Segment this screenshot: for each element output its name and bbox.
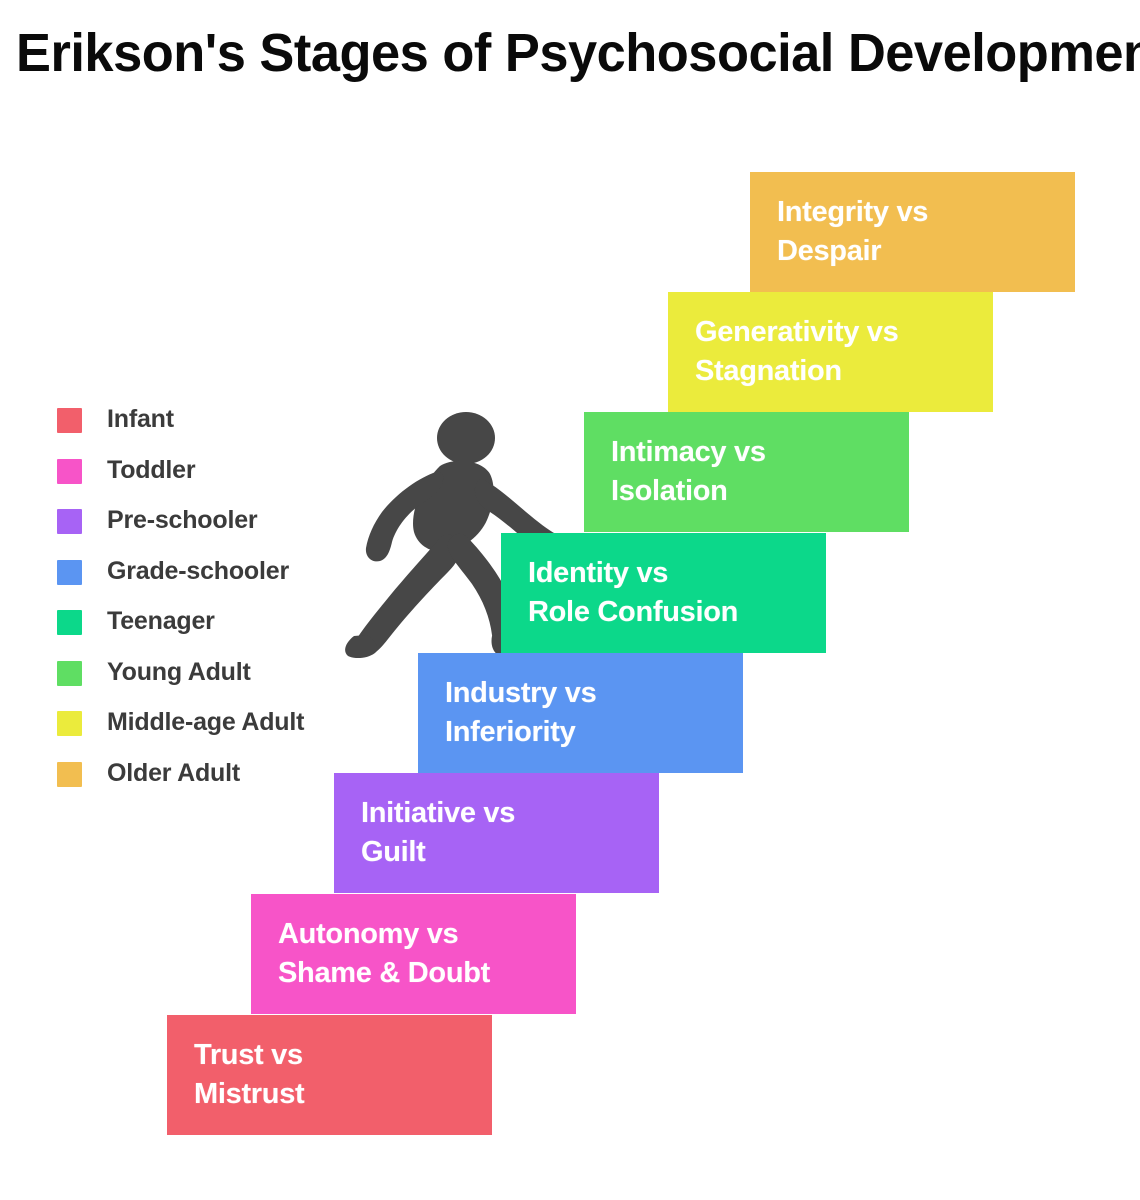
stage-block-generativity-vs-stagnation: Generativity vs Stagnation	[668, 292, 993, 412]
stage-label-line2: Shame & Doubt	[278, 954, 576, 993]
stages-staircase: Integrity vs Despair Generativity vs Sta…	[0, 0, 1140, 1200]
stage-label-line2: Guilt	[361, 833, 659, 872]
stage-label-line1: Initiative vs	[361, 794, 659, 833]
stage-label-line2: Mistrust	[194, 1075, 492, 1114]
stage-block-industry-vs-inferiority: Industry vs Inferiority	[418, 653, 743, 773]
stage-label-line1: Generativity vs	[695, 313, 993, 352]
stage-label-line1: Identity vs	[528, 554, 826, 593]
stage-block-trust-vs-mistrust: Trust vs Mistrust	[167, 1015, 492, 1135]
stage-label-line2: Isolation	[611, 472, 909, 511]
stage-label-line1: Trust vs	[194, 1036, 492, 1075]
stage-label-line2: Stagnation	[695, 352, 993, 391]
stage-label-line1: Integrity vs	[777, 193, 1075, 232]
stage-label-line2: Inferiority	[445, 713, 743, 752]
infographic-canvas: Erikson's Stages of Psychosocial Develop…	[0, 0, 1140, 1200]
stage-label-line2: Despair	[777, 232, 1075, 271]
stage-block-initiative-vs-guilt: Initiative vs Guilt	[334, 773, 659, 893]
stage-label-line1: Autonomy vs	[278, 915, 576, 954]
stage-block-intimacy-vs-isolation: Intimacy vs Isolation	[584, 412, 909, 532]
stage-label-line2: Role Confusion	[528, 593, 826, 632]
stage-label-line1: Industry vs	[445, 674, 743, 713]
stage-block-integrity-vs-despair: Integrity vs Despair	[750, 172, 1075, 292]
stage-block-autonomy-vs-shame-and-doubt: Autonomy vs Shame & Doubt	[251, 894, 576, 1014]
stage-label-line1: Intimacy vs	[611, 433, 909, 472]
stage-block-identity-vs-role-confusion: Identity vs Role Confusion	[501, 533, 826, 653]
